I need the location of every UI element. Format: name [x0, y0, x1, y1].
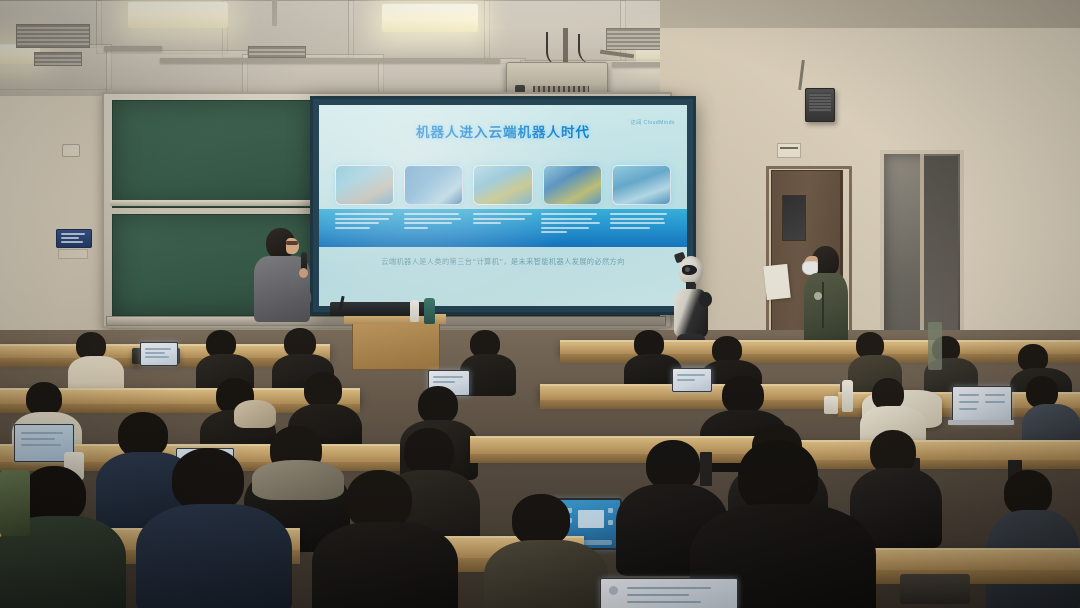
- laptop[interactable]: [140, 342, 176, 364]
- wall-plate-right: [777, 143, 801, 158]
- wall-outlet: [62, 144, 80, 157]
- slide-caption: [473, 213, 534, 243]
- wall-speaker: [805, 88, 835, 122]
- slide-caption: [335, 213, 396, 243]
- attendee-torso: [804, 273, 848, 349]
- slide-thumbnail: [543, 165, 602, 205]
- presenter: [252, 228, 318, 328]
- lecture-hall-photo: 之小人 机器人进入云端机器人时代 达闼 CloudMinds: [0, 0, 1080, 608]
- ceiling-vent: [16, 24, 90, 48]
- potted-plant: [928, 322, 942, 370]
- seat: [900, 574, 970, 604]
- desk-row: [846, 548, 1080, 570]
- ceiling-vent: [248, 46, 306, 58]
- slide-thumbnail: [335, 165, 394, 205]
- right-wall-soffit: [660, 0, 1080, 28]
- glasses-icon: [286, 241, 298, 245]
- laptop[interactable]: [600, 578, 736, 608]
- wall-notice-subplate: [58, 249, 88, 259]
- presenter-hand: [299, 268, 308, 278]
- student: [312, 470, 462, 608]
- slide-caption: [541, 213, 602, 243]
- slide-thumbnail: [612, 165, 671, 205]
- door-notice-paper: [763, 264, 790, 300]
- slide-thumbnail-row: [335, 165, 671, 205]
- projector-cable: [546, 32, 570, 66]
- slide-logo: 达闼 CloudMinds: [631, 119, 675, 126]
- slide-thumbnail: [473, 165, 532, 205]
- robot-eye-icon: [685, 267, 690, 272]
- lectern: [352, 322, 440, 370]
- student: [68, 332, 128, 388]
- potted-plant: [0, 470, 30, 536]
- slide-caption: [610, 213, 671, 243]
- student: [1022, 376, 1080, 448]
- student: [986, 470, 1080, 608]
- cup: [824, 396, 838, 414]
- jacket-zipper: [822, 282, 824, 328]
- projection-screen: 机器人进入云端机器人时代 达闼 CloudMinds: [310, 96, 696, 315]
- presentation-slide: 机器人进入云端机器人时代 达闼 CloudMinds: [319, 105, 687, 306]
- water-bottle: [410, 300, 419, 322]
- ceiling-mount: [272, 0, 277, 26]
- student: [484, 494, 612, 608]
- jacket-logo: [814, 292, 822, 300]
- laptop-base: [948, 420, 1014, 425]
- slide-caption: [404, 213, 465, 243]
- slide-thumbnail: [404, 165, 463, 205]
- ceiling-light: [382, 4, 478, 32]
- door-window: [782, 195, 806, 241]
- robot-shoulder: [699, 292, 712, 307]
- thermos: [424, 298, 435, 324]
- student: [136, 448, 296, 608]
- laptop[interactable]: [952, 386, 1010, 422]
- app-icon: [609, 586, 618, 595]
- ceiling-light: [128, 2, 228, 28]
- slide-caption-band: [319, 209, 687, 247]
- slide-footer-text: 云端机器人是人类的第三台“计算机”，是未来智能机器人发展的必然方向: [319, 257, 687, 267]
- wall-notice-sign: [56, 229, 92, 248]
- thermos: [842, 380, 853, 412]
- ceiling-vent: [34, 52, 82, 66]
